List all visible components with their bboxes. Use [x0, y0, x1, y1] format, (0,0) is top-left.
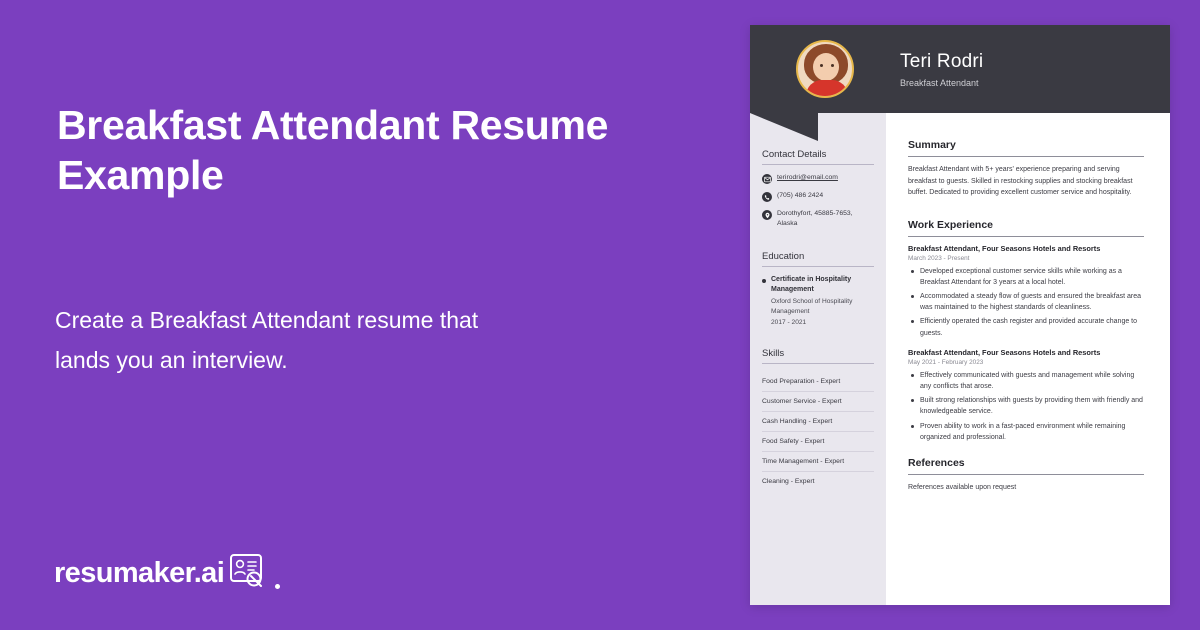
job-bullets: Developed exceptional customer service s… — [908, 266, 1144, 339]
resume-header: Teri Rodri Breakfast Attendant — [750, 25, 1170, 113]
education-dates: 2017 - 2021 — [771, 319, 874, 326]
bullet-icon — [762, 279, 766, 283]
work-experience-heading: Work Experience — [908, 219, 1144, 237]
contact-email[interactable]: terirodri@email.com — [777, 173, 838, 183]
work-item: Breakfast Attendant, Four Seasons Hotels… — [908, 244, 1144, 339]
logo-dot — [275, 584, 280, 589]
phone-icon — [762, 192, 772, 202]
resume-role: Breakfast Attendant — [900, 78, 983, 88]
header-notch — [750, 113, 818, 141]
document-card-icon — [227, 552, 273, 594]
contact-details-heading: Contact Details — [762, 149, 874, 165]
job-bullet: Effectively communicated with guests and… — [908, 370, 1144, 392]
skill-item: Customer Service - Expert — [762, 392, 874, 412]
contact-address-row: Dorothyfort, 45885-7653, Alaska — [762, 209, 874, 229]
job-bullet: Built strong relationships with guests b… — [908, 395, 1144, 417]
job-dates: May 2021 - February 2023 — [908, 359, 1144, 366]
education-degree: Certificate in Hospitality Management — [771, 275, 874, 295]
job-bullet: Developed exceptional customer service s… — [908, 266, 1144, 288]
page-title: Breakfast Attendant Resume Example — [57, 100, 677, 200]
references-heading: References — [908, 457, 1144, 475]
resume-main: Summary Breakfast Attendant with 5+ year… — [886, 113, 1170, 605]
avatar — [796, 40, 854, 98]
contact-address: Dorothyfort, 45885-7653, Alaska — [777, 209, 874, 229]
skill-item: Cleaning - Expert — [762, 472, 874, 491]
education-school: Oxford School of Hospitality Management — [771, 297, 874, 317]
education-item: Certificate in Hospitality Management Ox… — [762, 275, 874, 326]
brand-logo-text: resumaker.ai — [54, 557, 224, 590]
skill-item: Time Management - Expert — [762, 452, 874, 472]
contact-email-row[interactable]: terirodri@email.com — [762, 173, 874, 184]
skill-item: Food Preparation - Expert — [762, 372, 874, 392]
resume-body: Contact Details terirodri@email.com (705… — [750, 113, 1170, 605]
job-bullets: Effectively communicated with guests and… — [908, 370, 1144, 443]
education-heading: Education — [762, 251, 874, 267]
job-title: Breakfast Attendant, Four Seasons Hotels… — [908, 244, 1144, 253]
brand-logo[interactable]: resumaker.ai — [54, 552, 280, 594]
skill-item: Food Safety - Expert — [762, 432, 874, 452]
work-item: Breakfast Attendant, Four Seasons Hotels… — [908, 348, 1144, 443]
job-bullet: Proven ability to work in a fast-paced e… — [908, 421, 1144, 443]
skill-item: Cash Handling - Expert — [762, 412, 874, 432]
job-dates: March 2023 - Present — [908, 255, 1144, 262]
resume-sidebar: Contact Details terirodri@email.com (705… — [750, 113, 886, 605]
contact-phone: (705) 486 2424 — [777, 191, 823, 201]
skills-heading: Skills — [762, 348, 874, 364]
job-bullet: Efficiently operated the cash register a… — [908, 316, 1144, 338]
resume-preview-card[interactable]: Teri Rodri Breakfast Attendant Contact D… — [750, 25, 1170, 605]
job-title: Breakfast Attendant, Four Seasons Hotels… — [908, 348, 1144, 357]
summary-text: Breakfast Attendant with 5+ years' exper… — [908, 164, 1144, 199]
job-bullet: Accommodated a steady flow of guests and… — [908, 291, 1144, 313]
contact-phone-row: (705) 486 2424 — [762, 191, 874, 202]
summary-heading: Summary — [908, 139, 1144, 157]
promo-panel: Breakfast Attendant Resume Example Creat… — [0, 0, 750, 630]
resume-name: Teri Rodri — [900, 51, 983, 73]
promo-subtitle: Create a Breakfast Attendant resume that… — [55, 300, 525, 380]
location-pin-icon — [762, 210, 772, 220]
references-text: References available upon request — [908, 482, 1144, 494]
email-icon — [762, 174, 772, 184]
